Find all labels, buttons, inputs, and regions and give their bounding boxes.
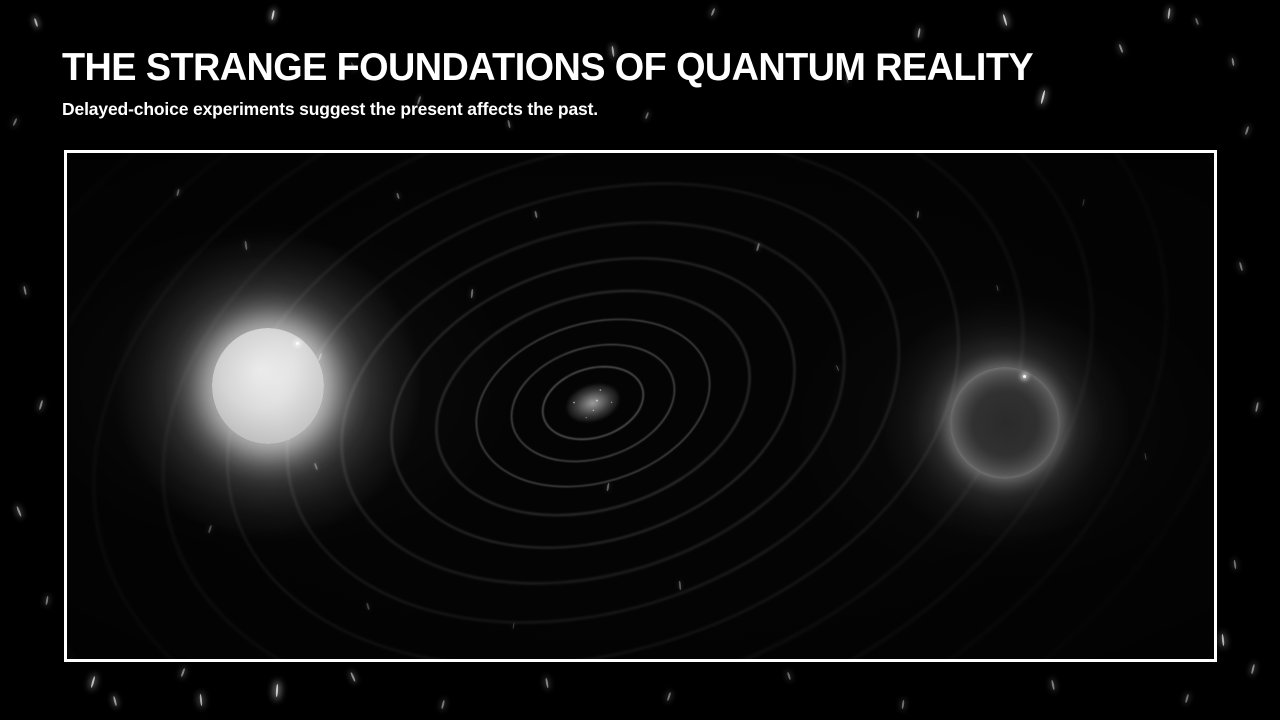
dust-speck [1195,18,1199,25]
dust-speck [1233,560,1236,569]
dust-speck [276,684,279,697]
dust-speck [917,28,921,38]
dust-speck [1239,262,1243,271]
dust-speck [90,676,95,688]
dust-speck [667,692,671,701]
dust-speck [1231,58,1234,66]
dust-speck [901,700,904,709]
page-title: THE STRANGE FOUNDATIONS OF QUANTUM REALI… [62,46,1129,90]
dust-speck [1185,694,1189,703]
right-sphere-body [950,367,1060,479]
dust-speck [1167,8,1171,19]
dust-speck [113,696,117,706]
dust-speck [1221,634,1224,646]
dust-speck [34,18,39,27]
dust-speck [181,668,186,677]
right-sphere-spark [1023,375,1026,378]
dust-speck [1051,680,1055,690]
dust-speck [39,400,43,410]
dust-speck [507,120,510,128]
dust-speck [1245,126,1249,135]
visual-frame [64,150,1217,662]
dust-speck [711,8,716,16]
dust-speck [16,506,22,517]
dust-speck [545,678,549,688]
headline-block: THE STRANGE FOUNDATIONS OF QUANTUM REALI… [62,46,1162,120]
dust-speck [199,694,202,706]
dust-speck [1002,14,1007,26]
left-sphere-body [212,328,324,444]
slide-canvas: THE STRANGE FOUNDATIONS OF QUANTUM REALI… [0,0,1280,720]
dust-speck [23,286,27,295]
page-subtitle: Delayed-choice experiments suggest the p… [62,98,1162,120]
dust-speck [271,10,275,20]
left-sphere-spark [296,342,299,345]
dust-speck [12,118,17,126]
dust-speck [1255,402,1259,412]
dust-speck [441,700,445,709]
dust-speck [45,596,48,605]
dust-speck [350,672,356,682]
dust-speck [787,672,791,680]
dust-speck [1251,664,1255,674]
quantum-interference-scene [67,153,1214,659]
